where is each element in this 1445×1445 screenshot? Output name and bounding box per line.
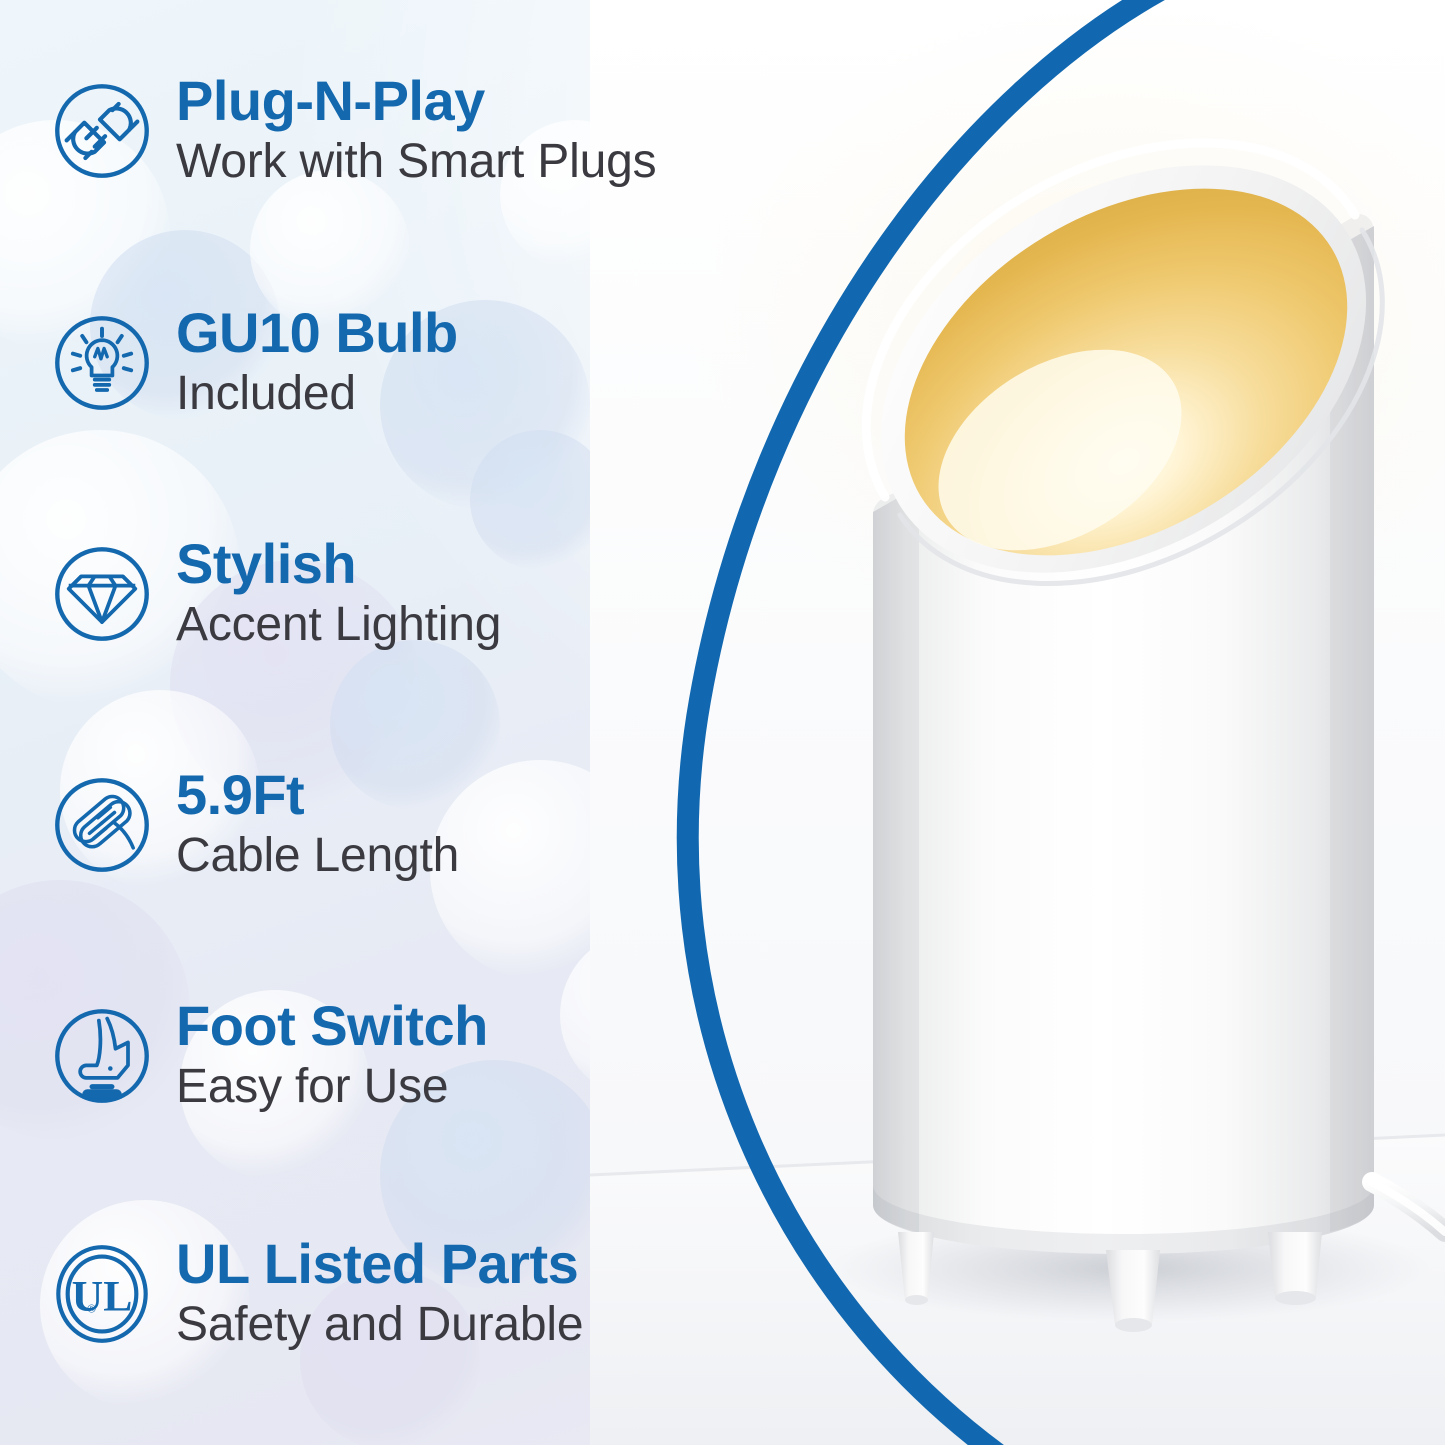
ul-certification-icon: UL ® <box>50 1242 154 1346</box>
ul-mark-text: UL <box>72 1273 133 1321</box>
feature-title: GU10 Bulb <box>176 304 458 362</box>
feature-subtitle: Accent Lighting <box>176 597 501 653</box>
feature-text: UL Listed Parts Safety and Durable <box>176 1235 583 1353</box>
feature-title: UL Listed Parts <box>176 1235 583 1293</box>
feature-item-ul-listed[interactable]: UL ® UL Listed Parts Safety and Durable <box>50 1235 583 1353</box>
feature-title: 5.9Ft <box>176 766 459 824</box>
feature-subtitle: Included <box>176 366 458 422</box>
feature-text: Stylish Accent Lighting <box>176 535 501 653</box>
feature-title: Foot Switch <box>176 997 488 1055</box>
feature-item-cable-length[interactable]: 5.9Ft Cable Length <box>50 766 459 884</box>
feature-title: Plug-N-Play <box>176 72 656 130</box>
feature-text: GU10 Bulb Included <box>176 304 458 422</box>
feature-item-gu10-bulb[interactable]: GU10 Bulb Included <box>50 304 458 422</box>
coiled-cable-icon <box>50 773 154 877</box>
feature-text: Foot Switch Easy for Use <box>176 997 488 1115</box>
diamond-gem-icon <box>50 542 154 646</box>
feature-text: 5.9Ft Cable Length <box>176 766 459 884</box>
feature-list: Plug-N-Play Work with Smart Plugs <box>0 0 700 1445</box>
plug-connector-icon <box>50 79 154 183</box>
feature-subtitle: Safety and Durable <box>176 1297 583 1353</box>
infographic-canvas: Plug-N-Play Work with Smart Plugs <box>0 0 1445 1445</box>
feature-item-stylish[interactable]: Stylish Accent Lighting <box>50 535 501 653</box>
feature-item-plug-n-play[interactable]: Plug-N-Play Work with Smart Plugs <box>50 72 656 190</box>
feature-subtitle: Easy for Use <box>176 1059 488 1115</box>
feature-title: Stylish <box>176 535 501 593</box>
foot-switch-icon <box>50 1004 154 1108</box>
light-bulb-icon <box>50 311 154 415</box>
feature-subtitle: Work with Smart Plugs <box>176 134 656 190</box>
feature-text: Plug-N-Play Work with Smart Plugs <box>176 72 656 190</box>
feature-item-foot-switch[interactable]: Foot Switch Easy for Use <box>50 997 488 1115</box>
registered-symbol: ® <box>87 1304 96 1316</box>
feature-subtitle: Cable Length <box>176 828 459 884</box>
